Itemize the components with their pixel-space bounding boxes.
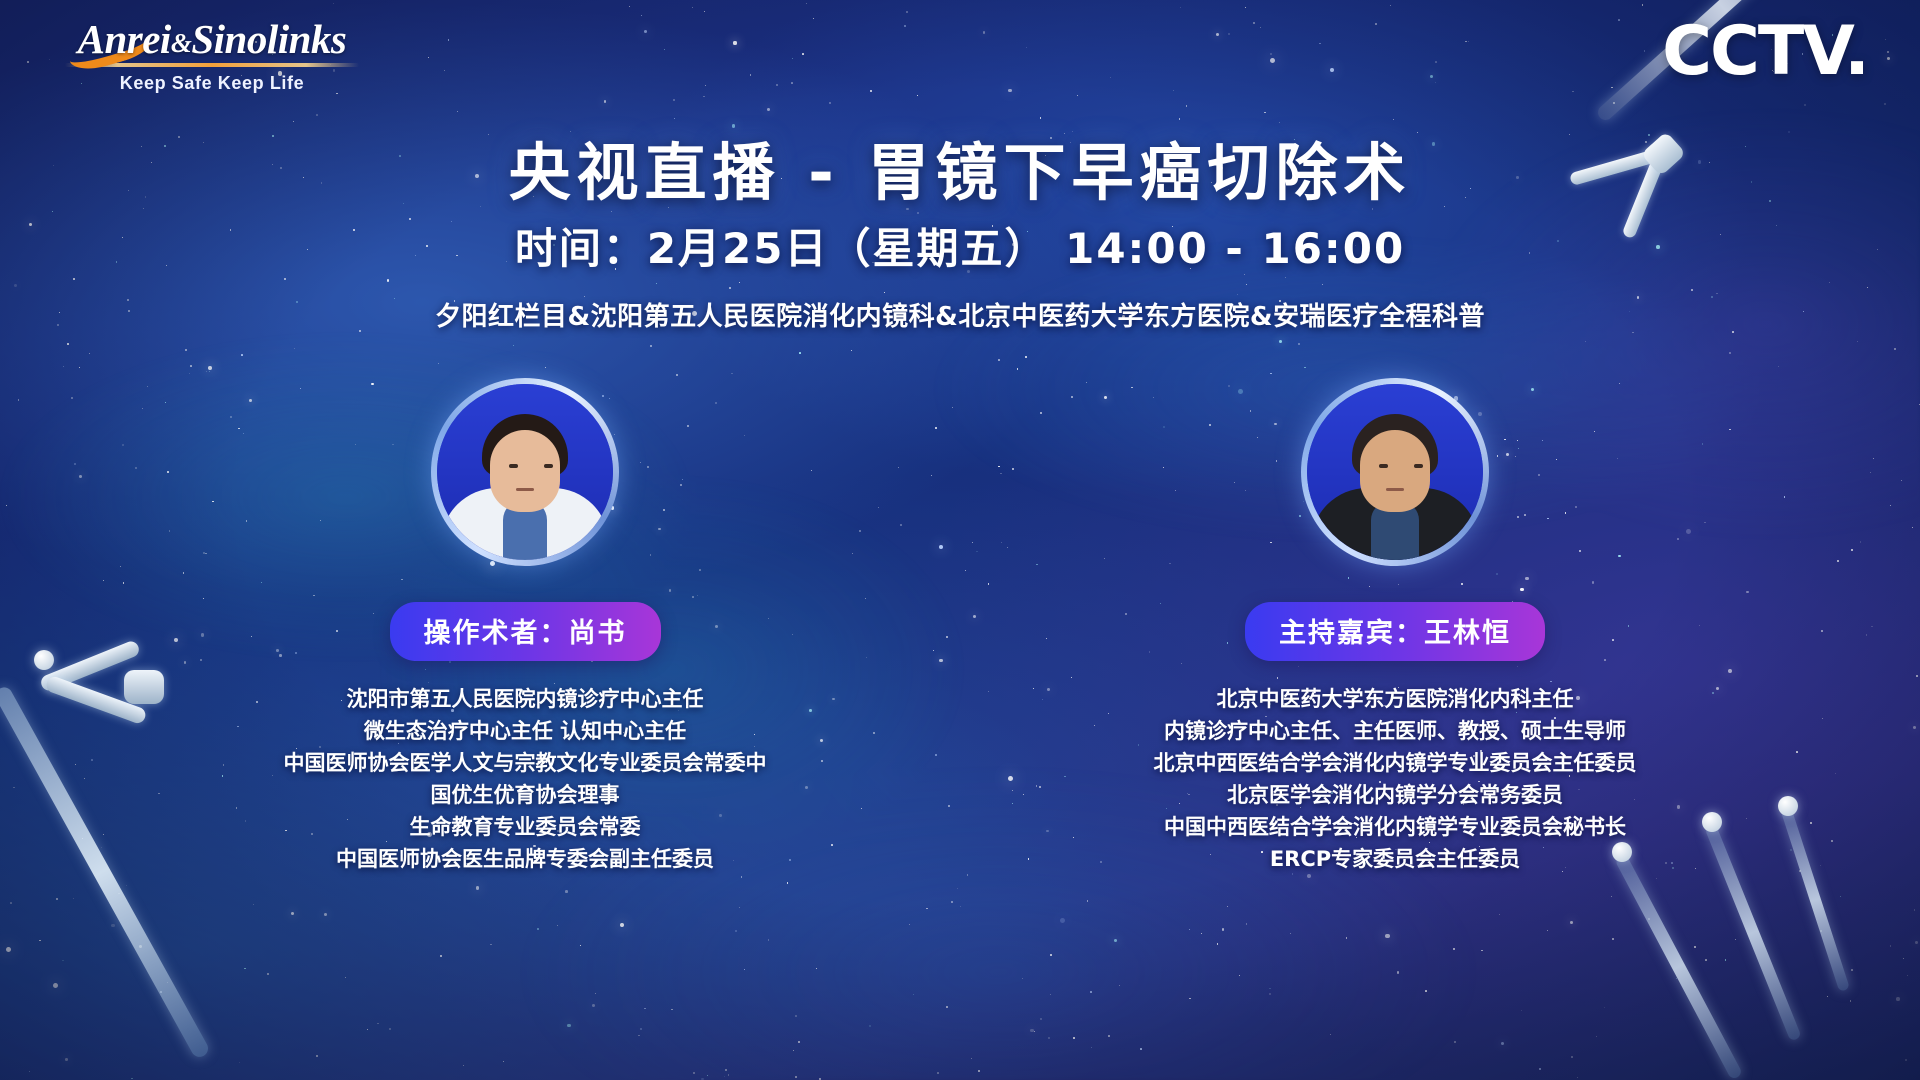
poster-stage: Anrei&Sinolinks Keep Safe Keep Life CCTV… [0,0,1920,1080]
event-time: 时间：2月25日（星期五） 14:00 - 16:00 [0,215,1920,276]
status-badge: 主持嘉宾：王林恒 [1245,602,1545,661]
logo-wordmark: Anrei&Sinolinks [62,18,362,61]
bio-line: 中国医师协会医生品牌专委会副主任委员 [284,843,767,875]
bio-line: 中国中西医结合学会消化内镜学专业委员会秘书长 [1154,811,1637,843]
bio-line: 沈阳市第五人民医院内镜诊疗中心主任 [284,683,767,715]
logo-ampersand: & [171,28,192,58]
company-logo: Anrei&Sinolinks Keep Safe Keep Life [62,18,362,94]
bio-line: 北京中西医结合学会消化内镜学专业委员会主任委员 [1154,747,1637,779]
avatar-ring [431,378,619,566]
speakers-section: 操作术者：尚书 沈阳市第五人民医院内镜诊疗中心主任 微生态治疗中心主任 认知中心… [0,378,1920,898]
bio-line: 国优生优育协会理事 [284,779,767,811]
bio-line: 北京中医药大学东方医院消化内科主任 [1154,683,1637,715]
bio-line: 北京医学会消化内镜学分会常务委员 [1154,779,1637,811]
speaker-bio: 沈阳市第五人民医院内镜诊疗中心主任 微生态治疗中心主任 认知中心主任 中国医师协… [284,683,767,875]
bio-line: 微生态治疗中心主任 认知中心主任 [284,715,767,747]
organizers-line: 夕阳红栏目&沈阳第五人民医院消化内镜科&北京中医药大学东方医院&安瑞医疗全程科普 [0,296,1920,333]
speaker-bio: 北京中医药大学东方医院消化内科主任 内镜诊疗中心主任、主任医师、教授、硕士生导师… [1154,683,1637,875]
avatar-ring [1301,378,1489,566]
speaker-card-operator: 操作术者：尚书 沈阳市第五人民医院内镜诊疗中心主任 微生态治疗中心主任 认知中心… [290,378,760,898]
status-badge: 操作术者：尚书 [390,602,661,661]
bio-line: ERCP专家委员会主任委员 [1154,843,1637,875]
logo-tagline: Keep Safe Keep Life [62,73,362,94]
avatar [437,384,613,560]
bio-line: 内镜诊疗中心主任、主任医师、教授、硕士生导师 [1154,715,1637,747]
bio-line: 中国医师协会医学人文与宗教文化专业委员会常委中 [284,747,767,779]
logo-name-right: Sinolinks [191,16,346,62]
page-title: 央视直播 - 胃镜下早癌切除术 [0,122,1920,212]
speaker-card-host: 主持嘉宾：王林恒 北京中医药大学东方医院消化内科主任 内镜诊疗中心主任、主任医师… [1160,378,1630,898]
logo-name-left: Anrei [78,16,171,62]
avatar [1307,384,1483,560]
cctv-logo: CCTV. [1662,18,1868,86]
bio-line: 生命教育专业委员会常委 [284,811,767,843]
